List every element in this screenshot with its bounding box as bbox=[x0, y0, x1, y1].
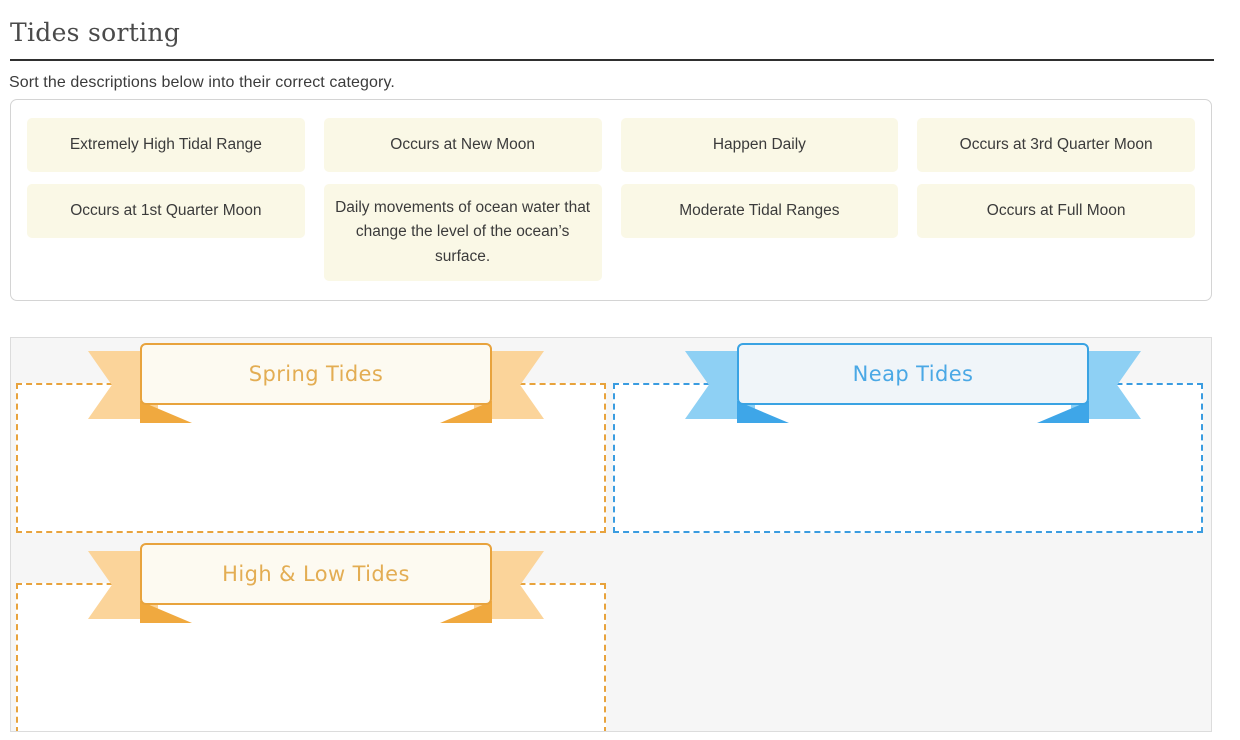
list-item[interactable]: Extremely High Tidal Range bbox=[27, 118, 305, 172]
category-plate: Neap Tides bbox=[737, 343, 1089, 405]
list-item[interactable]: Occurs at 3rd Quarter Moon bbox=[917, 118, 1195, 172]
category-neap-tides: Neap Tides bbox=[613, 343, 1209, 538]
category-label: Neap Tides bbox=[853, 362, 974, 386]
list-item[interactable]: Occurs at Full Moon bbox=[917, 184, 1195, 238]
ribbon-high-low-tides: High & Low Tides bbox=[88, 543, 544, 625]
page-title: Tides sorting bbox=[0, 0, 1240, 47]
list-item[interactable]: Happen Daily bbox=[621, 118, 899, 172]
ribbon-neap-tides: Neap Tides bbox=[685, 343, 1141, 425]
list-item[interactable]: Daily movements of ocean water that chan… bbox=[324, 184, 602, 281]
category-plate: Spring Tides bbox=[140, 343, 492, 405]
categories-container: Spring Tides Neap Tides High & Low Tides bbox=[10, 337, 1212, 732]
list-item[interactable]: Occurs at New Moon bbox=[324, 118, 602, 172]
list-item[interactable]: Occurs at 1st Quarter Moon bbox=[27, 184, 305, 238]
list-item[interactable]: Moderate Tidal Ranges bbox=[621, 184, 899, 238]
category-spring-tides: Spring Tides bbox=[16, 343, 612, 538]
items-grid: Extremely High Tidal Range Occurs at New… bbox=[27, 118, 1195, 281]
instructions-text: Sort the descriptions below into their c… bbox=[0, 61, 1240, 92]
category-label: High & Low Tides bbox=[222, 562, 410, 586]
ribbon-spring-tides: Spring Tides bbox=[88, 343, 544, 425]
category-high-low-tides: High & Low Tides bbox=[16, 543, 612, 732]
category-plate: High & Low Tides bbox=[140, 543, 492, 605]
items-pool-container: Extremely High Tidal Range Occurs at New… bbox=[10, 99, 1212, 301]
category-label: Spring Tides bbox=[249, 362, 383, 386]
